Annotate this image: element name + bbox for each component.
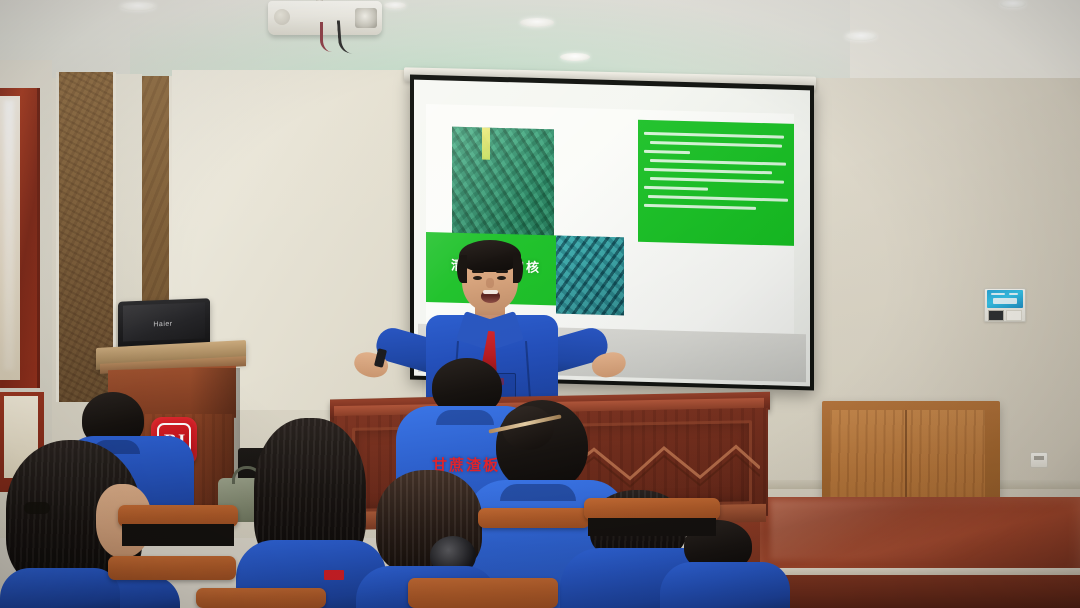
chair-back-6[interactable] [196, 588, 326, 608]
hvac-readout [993, 298, 1017, 304]
wall-outlet-slot [1034, 456, 1044, 460]
chair-back-3[interactable] [478, 508, 590, 528]
chair-back-5[interactable] [408, 578, 558, 608]
presenter-eyebrow-right [496, 270, 508, 273]
window-glare [4, 100, 14, 370]
wall-panel-switch-light[interactable] [1006, 310, 1022, 321]
attendee-bottom-left [0, 560, 120, 608]
slide-body-line [644, 186, 708, 191]
presenter-eye-right [497, 276, 506, 280]
presenter-eyebrow-left [472, 270, 484, 273]
slide-body-line [644, 150, 690, 154]
slide-body-line [650, 159, 786, 166]
presenter-hair-side-left [457, 255, 467, 283]
stage-front-face [760, 575, 1080, 608]
attendee-shoulder-logo [324, 570, 344, 580]
presenter-nose [486, 278, 494, 288]
slide-image-highlight [482, 127, 490, 159]
recessed-downlight-3 [560, 53, 590, 61]
attendee-ponytail-band [24, 502, 50, 514]
chair-seat-4 [588, 518, 716, 536]
slide-body-text [644, 132, 790, 211]
slide-image-sugarcane-left [452, 127, 554, 238]
presenter-hair-side-right [513, 255, 523, 283]
slide-body-line [648, 195, 788, 202]
chair-back-2[interactable] [108, 556, 236, 580]
presenter-eye-left [473, 276, 482, 280]
attendee-uniform [660, 562, 790, 608]
attendee-uniform [0, 568, 120, 608]
hvac-readout [1009, 293, 1018, 295]
projector-lens [355, 8, 377, 28]
presenter-hair [459, 240, 521, 272]
recessed-downlight-5 [1000, 0, 1026, 8]
recessed-downlight-2 [520, 18, 554, 27]
wall-control-panel-display [987, 290, 1023, 308]
chair-seat-1 [122, 524, 234, 546]
photo-canvas: 清洁生产审核 一、清洁生产审核的目的和意义，企业开展 [0, 0, 1080, 608]
hvac-readout [991, 293, 1005, 295]
projector-cable-red [320, 22, 332, 52]
slide-body-line [644, 168, 772, 174]
recessed-downlight-6 [384, 2, 406, 9]
wall-outlet [1030, 452, 1048, 468]
chair-back-4[interactable] [584, 498, 720, 520]
recessed-downlight-4 [845, 32, 877, 41]
wall-panel-switch-dark[interactable] [988, 310, 1004, 321]
podium-monitor-brand: Haier [148, 317, 178, 330]
projector-vent-icon [274, 9, 290, 25]
slide-body-line [650, 177, 784, 184]
slide-body-line [650, 141, 782, 148]
stage-floor-reflection [770, 500, 1070, 560]
presenter-teeth [483, 290, 498, 294]
recessed-downlight-1 [120, 2, 156, 11]
